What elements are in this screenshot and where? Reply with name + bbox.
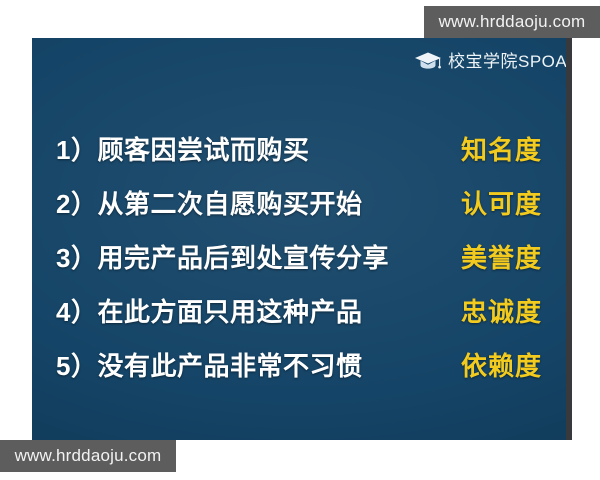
list-item-label: 在此方面只用这种产品: [97, 297, 362, 327]
list-item-tag: 认可度: [461, 184, 542, 221]
watermark-top-right-text: www.hrddaoju.com: [439, 12, 586, 32]
watermark-bottom-left: www.hrddaoju.com: [0, 440, 176, 472]
watermark-bottom-left-text: www.hrddaoju.com: [15, 446, 162, 466]
list-item-index: 3）: [56, 243, 97, 273]
bullet-list: 1）顾客因尝试而购买 知名度 2）从第二次自愿购买开始 认可度 3）用完产品后到…: [56, 121, 542, 391]
list-item-label: 从第二次自愿购买开始: [97, 189, 362, 219]
brand-name-latin: SPOA: [518, 52, 566, 71]
brand-logo: 校宝学院SPOA: [414, 51, 566, 71]
brand-name-cn: 校宝学院: [448, 52, 518, 71]
list-item: 4）在此方面只用这种产品 忠诚度: [56, 283, 542, 337]
panel-right-edge: [566, 38, 572, 440]
list-item-index: 1）: [56, 135, 97, 165]
list-item: 1）顾客因尝试而购买 知名度: [56, 121, 542, 175]
list-item-label: 顾客因尝试而购买: [97, 135, 309, 165]
list-item-index: 4）: [56, 297, 97, 327]
list-item-text: 3）用完产品后到处宣传分享: [56, 238, 389, 275]
list-item-label: 没有此产品非常不习惯: [97, 351, 362, 381]
list-item-index: 5）: [56, 351, 97, 381]
list-item-label: 用完产品后到处宣传分享: [97, 243, 389, 273]
graduation-cap-icon: [414, 51, 442, 71]
list-item-text: 1）顾客因尝试而购买: [56, 130, 309, 167]
list-item-tag: 忠诚度: [461, 292, 542, 329]
slide-panel: 校宝学院SPOA 1）顾客因尝试而购买 知名度 2）从第二次自愿购买开始 认可度…: [32, 38, 566, 440]
list-item-tag: 知名度: [461, 130, 542, 167]
list-item-text: 5）没有此产品非常不习惯: [56, 346, 362, 383]
list-item-tag: 美誉度: [461, 238, 542, 275]
brand-name: 校宝学院SPOA: [448, 53, 566, 70]
list-item: 2）从第二次自愿购买开始 认可度: [56, 175, 542, 229]
list-item-text: 2）从第二次自愿购买开始: [56, 184, 362, 221]
list-item-tag: 依赖度: [461, 346, 542, 383]
list-item: 3）用完产品后到处宣传分享 美誉度: [56, 229, 542, 283]
list-item: 5）没有此产品非常不习惯 依赖度: [56, 337, 542, 391]
watermark-top-right: www.hrddaoju.com: [424, 6, 600, 38]
list-item-index: 2）: [56, 189, 97, 219]
list-item-text: 4）在此方面只用这种产品: [56, 292, 362, 329]
